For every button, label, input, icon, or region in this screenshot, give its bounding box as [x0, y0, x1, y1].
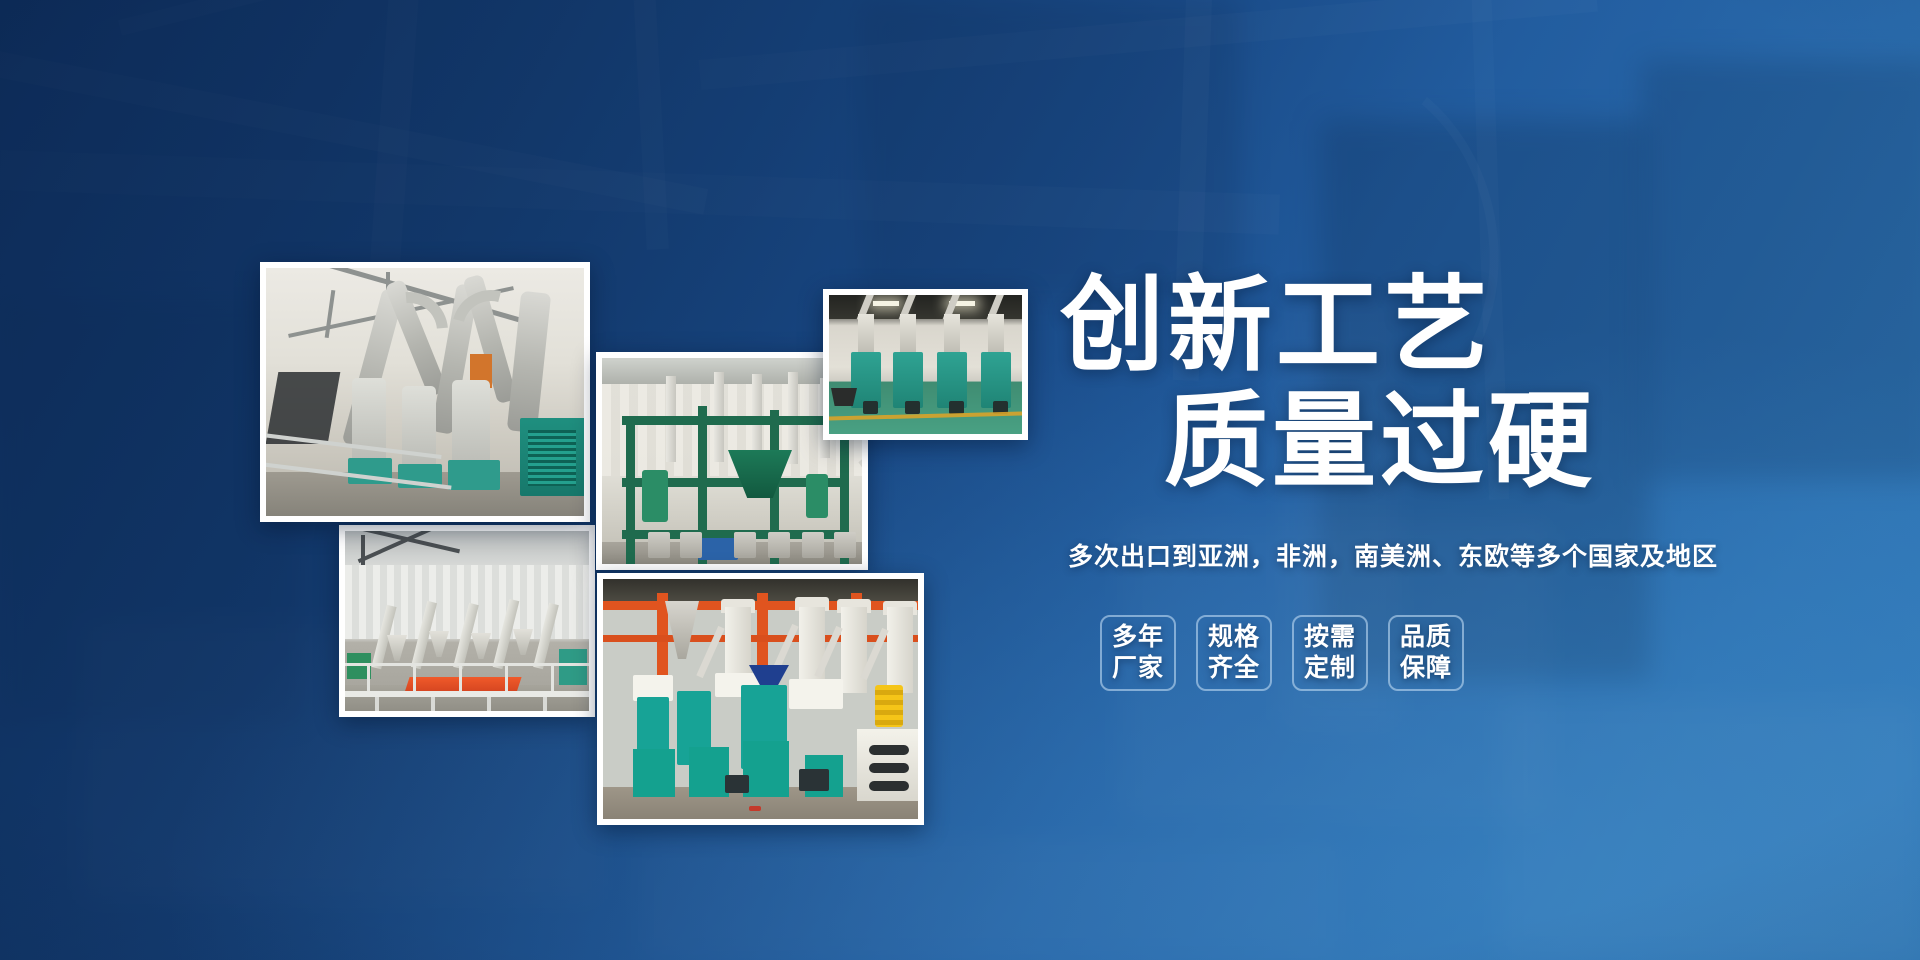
feature-badge-full-specifications[interactable]: 规格 齐全 — [1196, 615, 1272, 691]
feature-badge-quality-assurance[interactable]: 品质 保障 — [1388, 615, 1464, 691]
collage-photo-grey-milling-hall[interactable] — [260, 262, 590, 522]
headline-line-2: 质量过硬 — [1164, 384, 1760, 500]
collage-photo-teal-mills-orange-columns[interactable] — [597, 573, 924, 825]
badge-line-bottom: 定制 — [1304, 653, 1356, 684]
photo-scene — [345, 531, 589, 711]
badge-line-top: 规格 — [1208, 622, 1260, 653]
badge-line-top: 按需 — [1304, 622, 1356, 653]
feature-badge-row: 多年 厂家 规格 齐全 按需 定制 品质 保障 — [1100, 615, 1760, 691]
banner-text-block: 创新工艺 质量过硬 多次出口到亚洲，非洲，南美洲、东欧等多个国家及地区 多年 厂… — [1060, 268, 1760, 691]
badge-line-bottom: 厂家 — [1112, 653, 1164, 684]
photo-scene — [603, 579, 918, 819]
badge-line-top: 多年 — [1112, 622, 1164, 653]
photo-scene — [829, 295, 1022, 434]
subtitle: 多次出口到亚洲，非洲，南美洲、东欧等多个国家及地区 — [1068, 537, 1760, 573]
photo-scene — [266, 268, 584, 516]
collage-photo-rice-mill-line[interactable] — [339, 525, 595, 717]
badge-line-bottom: 保障 — [1400, 653, 1452, 684]
headline-line-1: 创新工艺 — [1060, 268, 1492, 384]
collage-photo-teal-flour-mills[interactable] — [823, 289, 1028, 440]
promo-banner: 创新工艺 质量过硬 多次出口到亚洲，非洲，南美洲、东欧等多个国家及地区 多年 厂… — [0, 0, 1920, 960]
feature-badge-custom-made[interactable]: 按需 定制 — [1292, 615, 1368, 691]
feature-badge-years-manufacturer[interactable]: 多年 厂家 — [1100, 615, 1176, 691]
badge-line-top: 品质 — [1400, 622, 1452, 653]
headline: 创新工艺 质量过硬 — [1060, 268, 1760, 501]
badge-line-bottom: 齐全 — [1208, 653, 1260, 684]
